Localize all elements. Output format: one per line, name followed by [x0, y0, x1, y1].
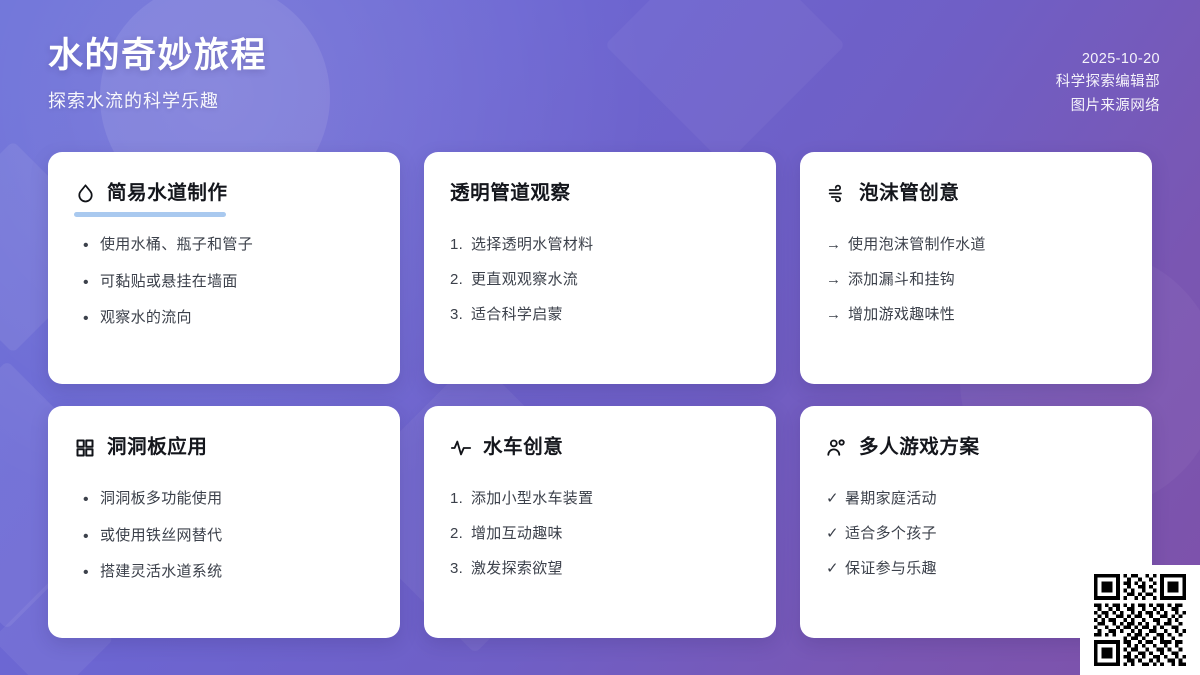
list-marker: → — [826, 269, 848, 291]
list-item-text: 观察水的流向 — [100, 307, 374, 329]
card-list: →使用泡沫管制作水道→添加漏斗和挂钩→增加游戏趣味性 — [826, 234, 1126, 325]
list-marker: 1. — [450, 234, 471, 256]
card[interactable]: 洞洞板应用•洞洞板多功能使用•或使用铁丝网替代•搭建灵活水道系统 — [48, 406, 400, 638]
qr-code[interactable] — [1094, 574, 1186, 666]
list-item: •洞洞板多功能使用 — [74, 488, 374, 511]
card-list: •洞洞板多功能使用•或使用铁丝网替代•搭建灵活水道系统 — [74, 488, 374, 584]
list-marker: 2. — [450, 269, 471, 291]
card-title: 透明管道观察 — [450, 182, 571, 205]
card-header: 水车创意 — [450, 436, 750, 459]
list-item: •使用水桶、瓶子和管子 — [74, 234, 374, 257]
list-item: →增加游戏趣味性 — [826, 304, 1126, 326]
list-item-text: 洞洞板多功能使用 — [100, 488, 374, 510]
list-item: 2.增加互动趣味 — [450, 523, 750, 545]
card-title: 多人游戏方案 — [859, 436, 980, 459]
card-list: 1.添加小型水车装置2.增加互动趣味3.激发探索欲望 — [450, 488, 750, 579]
card-list: •使用水桶、瓶子和管子•可黏贴或悬挂在墙面•观察水的流向 — [74, 234, 374, 330]
list-item-text: 增加互动趣味 — [471, 523, 750, 545]
list-item-text: 暑期家庭活动 — [845, 488, 1126, 510]
list-marker: → — [826, 234, 848, 256]
list-item-text: 可黏贴或悬挂在墙面 — [100, 271, 374, 293]
meta-editor: 科学探索编辑部 — [1056, 71, 1160, 94]
wind-icon — [826, 183, 848, 205]
list-marker: • — [74, 561, 100, 584]
list-marker: • — [74, 525, 100, 548]
card-title: 泡沫管创意 — [859, 182, 960, 205]
qr-code-container — [1080, 565, 1200, 675]
card-title: 水车创意 — [483, 436, 563, 459]
list-item: ✓暑期家庭活动 — [826, 488, 1126, 510]
list-item-text: 添加小型水车装置 — [471, 488, 750, 510]
list-item: •搭建灵活水道系统 — [74, 561, 374, 584]
list-marker: 3. — [450, 304, 471, 326]
meta-date: 2025-10-20 — [1056, 48, 1160, 71]
card[interactable]: 水车创意1.添加小型水车装置2.增加互动趣味3.激发探索欲望 — [424, 406, 776, 638]
list-marker: 2. — [450, 523, 471, 545]
list-marker: ✓ — [826, 523, 845, 545]
title-block: 水的奇妙旅程 探索水流的科学乐趣 — [48, 34, 267, 113]
card-header: 多人游戏方案 — [826, 436, 1126, 459]
meta-source: 图片来源网络 — [1056, 95, 1160, 118]
list-marker: ✓ — [826, 488, 845, 510]
list-item: •可黏贴或悬挂在墙面 — [74, 271, 374, 294]
list-item: →使用泡沫管制作水道 — [826, 234, 1126, 256]
list-item-text: 选择透明水管材料 — [471, 234, 750, 256]
card[interactable]: 透明管道观察1.选择透明水管材料2.更直观观察水流3.适合科学启蒙 — [424, 152, 776, 384]
list-marker: • — [74, 271, 100, 294]
list-item-text: 激发探索欲望 — [471, 558, 750, 580]
meta-block: 2025-10-20 科学探索编辑部 图片来源网络 — [1056, 34, 1160, 118]
list-marker: 3. — [450, 558, 471, 580]
page-header: 水的奇妙旅程 探索水流的科学乐趣 2025-10-20 科学探索编辑部 图片来源… — [0, 0, 1200, 148]
water-drop-icon — [74, 183, 96, 205]
list-marker: 1. — [450, 488, 471, 510]
list-item-text: 适合多个孩子 — [845, 523, 1126, 545]
list-marker: ✓ — [826, 558, 845, 580]
list-item: 1.添加小型水车装置 — [450, 488, 750, 510]
list-item-text: 更直观观察水流 — [471, 269, 750, 291]
card-grid: 简易水道制作•使用水桶、瓶子和管子•可黏贴或悬挂在墙面•观察水的流向透明管道观察… — [48, 152, 1152, 638]
card[interactable]: 泡沫管创意→使用泡沫管制作水道→添加漏斗和挂钩→增加游戏趣味性 — [800, 152, 1152, 384]
list-item: ✓适合多个孩子 — [826, 523, 1126, 545]
list-item-text: 或使用铁丝网替代 — [100, 525, 374, 547]
list-item: →添加漏斗和挂钩 — [826, 269, 1126, 291]
list-item: 2.更直观观察水流 — [450, 269, 750, 291]
list-marker: • — [74, 307, 100, 330]
list-marker: • — [74, 488, 100, 511]
card-title: 简易水道制作 — [107, 182, 228, 205]
list-item: •观察水的流向 — [74, 307, 374, 330]
list-item-text: 适合科学启蒙 — [471, 304, 750, 326]
activity-icon — [450, 437, 472, 459]
list-item-text: 搭建灵活水道系统 — [100, 561, 374, 583]
page-subtitle: 探索水流的科学乐趣 — [48, 87, 267, 113]
card-header: 透明管道观察 — [450, 182, 750, 205]
list-item: •或使用铁丝网替代 — [74, 525, 374, 548]
card-header: 泡沫管创意 — [826, 182, 1126, 205]
list-marker: → — [826, 304, 848, 326]
list-item-text: 添加漏斗和挂钩 — [848, 269, 1126, 291]
list-item-text: 使用泡沫管制作水道 — [848, 234, 1126, 256]
list-item: 3.适合科学启蒙 — [450, 304, 750, 326]
list-item: 3.激发探索欲望 — [450, 558, 750, 580]
list-item: 1.选择透明水管材料 — [450, 234, 750, 256]
page-title: 水的奇妙旅程 — [48, 34, 267, 78]
card[interactable]: 简易水道制作•使用水桶、瓶子和管子•可黏贴或悬挂在墙面•观察水的流向 — [48, 152, 400, 384]
list-item-text: 使用水桶、瓶子和管子 — [100, 234, 374, 256]
users-icon — [826, 437, 848, 459]
card-header: 简易水道制作 — [74, 182, 374, 205]
card-title: 洞洞板应用 — [107, 436, 208, 459]
list-item-text: 增加游戏趣味性 — [848, 304, 1126, 326]
list-marker: • — [74, 234, 100, 257]
title-accent-bar — [74, 212, 226, 217]
card-header: 洞洞板应用 — [74, 436, 374, 459]
card-list: 1.选择透明水管材料2.更直观观察水流3.适合科学启蒙 — [450, 234, 750, 325]
grid-icon — [74, 437, 96, 459]
